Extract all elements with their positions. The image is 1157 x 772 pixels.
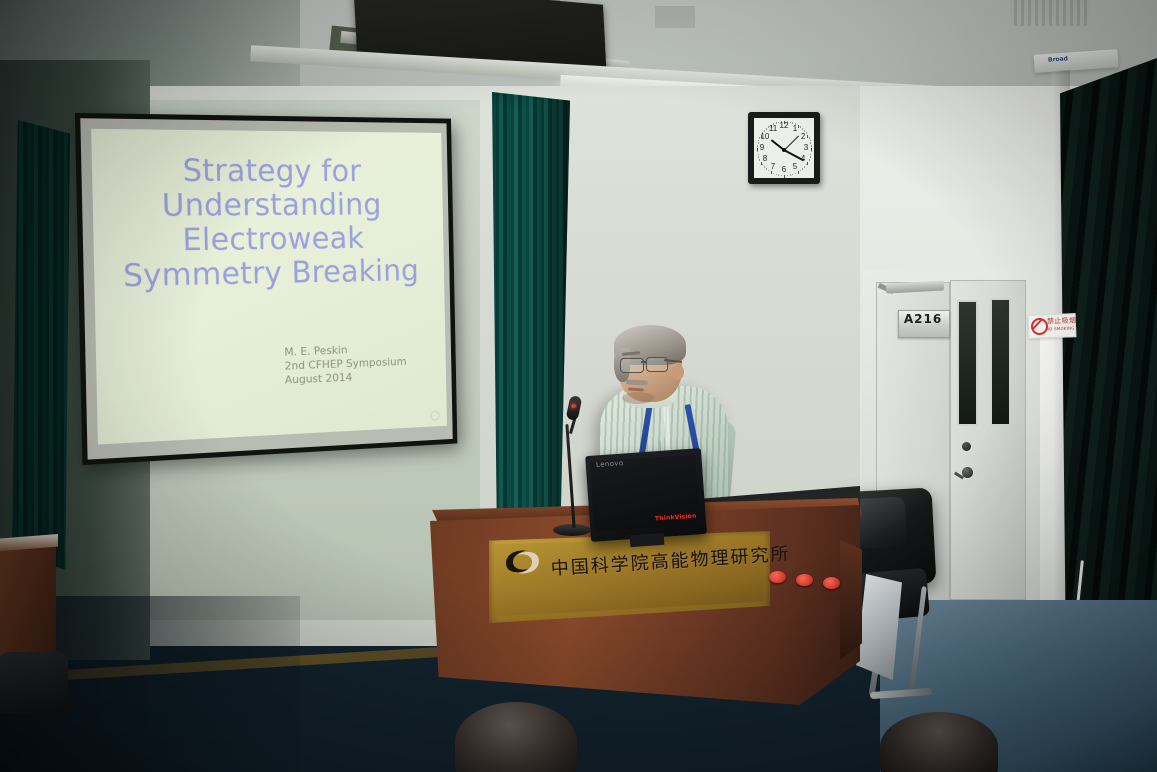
clock-tick [810,154,811,156]
clock-tick [766,168,767,170]
speaker-chin-shadow [622,392,654,404]
clock-face: 121234567891011 [754,118,814,178]
clock-tick [773,173,774,175]
clock-tick [795,173,796,175]
clock-tick [806,164,807,166]
slide-title-line-4: Symmetry Breaking [94,254,444,295]
slide-corner-logo-icon [430,411,439,421]
podium-button-1[interactable] [769,571,786,583]
clock-tick [776,174,777,176]
clock-tick [811,151,812,153]
clock-tick [787,175,788,177]
glasses-bridge [641,361,647,363]
clock-tick [764,130,765,132]
podium-right-side [840,540,862,660]
clock-numeral-9: 9 [757,144,767,152]
curtain-right [1060,58,1157,648]
podium-button-2[interactable] [796,574,813,586]
clock-tick [773,123,774,125]
ihep-swirl-logo-icon [502,546,544,578]
clock-center-pin [782,148,786,152]
clock-numeral-7: 7 [768,163,778,171]
clock-tick [781,121,782,123]
clock-tick [776,122,777,124]
clock-tick [811,145,812,147]
clock-tick [795,123,796,125]
clock-tick [784,175,785,178]
clock-tick [761,135,762,138]
clock-tick [768,126,769,128]
projection-screen: Strategy for Understanding Electroweak S… [75,113,457,465]
ceiling-grill-icon [1010,0,1090,26]
clock-tick [798,125,799,128]
slide-credit: M. E. Peskin 2nd CFHEP Symposium August … [284,341,407,387]
clock-tick [810,142,811,144]
slide-title-line-2: Understanding [92,189,443,225]
podium-button-3[interactable] [823,577,840,589]
clock-tick [766,128,767,130]
clock-tick [790,174,791,176]
hvac-logo: Broad [1048,55,1068,63]
clock-tick [806,132,807,134]
microphone-status-led [571,404,576,408]
clock-tick [771,171,772,174]
door-window-right [990,298,1011,426]
clock-tick [759,159,760,161]
door-latch-icon[interactable] [962,442,971,451]
clock-tick [809,137,810,139]
clock-tick [800,126,801,128]
slide-title-line-1: Strategy for [92,154,443,189]
presentation-slide: Strategy for Understanding Electroweak S… [91,129,447,445]
clock-tick [758,154,759,156]
clock-tick [792,174,793,176]
no-smoking-label-en: NO SMOKING [1046,326,1075,332]
slide-title: Strategy for Understanding Electroweak S… [92,154,445,295]
clock-tick [764,166,765,168]
screen-border: Strategy for Understanding Electroweak S… [80,118,452,459]
room-number-label: A216 [898,312,948,326]
clock-tick [800,170,801,172]
clock-tick [757,151,758,153]
bag [0,652,68,714]
curtain-left [12,120,70,570]
clock-tick [810,140,811,142]
clock-tick [758,142,759,144]
clock-tick [771,125,772,128]
clock-tick [778,122,779,124]
clock-tick [798,171,799,174]
clock-numeral-6: 6 [779,166,789,174]
clock-tick [787,121,788,123]
wall-clock: 121234567891011 [748,112,820,184]
clock-tick [802,168,803,170]
side-table [0,540,56,670]
clock-tick [757,148,758,151]
door-window-left [957,300,978,426]
lecture-hall-photo: Broad 121234567891011 Strategy for Under… [0,0,1157,772]
clock-second-hand [784,136,799,151]
speaker-mustache [626,379,648,385]
clock-tick [792,122,793,124]
clock-numeral-3: 3 [801,144,811,152]
monitor-stand [630,533,665,547]
clock-tick [802,128,803,130]
audience-head-left [455,702,577,772]
clock-tick [757,145,758,147]
clock-numeral-5: 5 [790,163,800,171]
clock-tick [762,132,763,134]
ceiling-fixture-icon [655,6,695,28]
clock-tick [761,162,762,165]
clock-tick [810,156,811,158]
speaker-ear [672,364,684,380]
clock-tick [804,166,805,168]
clock-numeral-1: 1 [790,125,800,133]
clock-tick [790,122,791,124]
clock-tick [784,121,785,124]
clock-tick [778,174,779,176]
clock-tick [762,164,763,166]
clock-numeral-11: 11 [768,125,778,133]
clock-tick [758,140,759,142]
clock-tick [758,156,759,158]
curtain-center-shading [492,92,570,522]
clock-tick [807,162,808,165]
clock-tick [809,159,810,161]
clock-tick [781,175,782,177]
clock-tick [768,170,769,172]
